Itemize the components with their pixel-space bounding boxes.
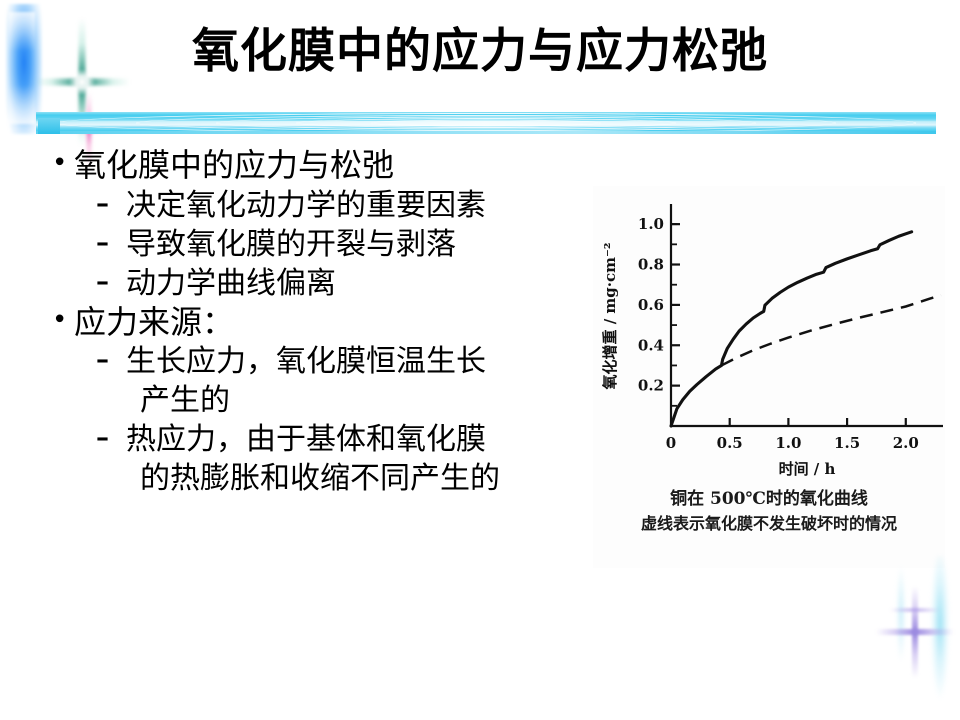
x-tick-label: 0 bbox=[666, 434, 676, 452]
x-tick-label: 2.0 bbox=[893, 434, 919, 452]
list-item-level1-label: 氧化膜中的应力与松弛 bbox=[74, 146, 612, 186]
y-axis-tick-labels: 0.20.40.60.81.0 bbox=[638, 215, 664, 394]
oxidation-curve-figure: 0.20.40.60.81.0 00.51.01.52.0 氧化增重 / mg·… bbox=[593, 186, 945, 568]
x-axis-tick-labels: 00.51.01.52.0 bbox=[666, 434, 919, 452]
dash-marker-icon: – bbox=[96, 342, 126, 379]
list-item-level2: – 导致氧化膜的开裂与剥落 bbox=[96, 225, 612, 264]
dash-marker-icon: – bbox=[96, 264, 126, 301]
y-axis-ticks bbox=[671, 224, 680, 406]
header-divider-stub bbox=[38, 118, 60, 134]
figure-caption-line-1: 铜在 500℃时的氧化曲线 bbox=[593, 486, 945, 512]
dash-marker-icon: – bbox=[96, 186, 126, 223]
list-item-level2: – 动力学曲线偏离 bbox=[96, 264, 612, 303]
bullet-dot-icon: • bbox=[52, 303, 74, 339]
decorative-cyan-streak-secondary bbox=[896, 566, 906, 662]
decorative-cyan-streak bbox=[930, 556, 950, 706]
list-item-level2-label: 生长应力，氧化膜恒温生长 产生的 bbox=[126, 342, 612, 420]
list-item-level2-label: 动力学曲线偏离 bbox=[126, 264, 612, 303]
list-item-level1: • 应力来源： bbox=[52, 303, 612, 343]
x-axis-ticks bbox=[730, 418, 906, 426]
figure-caption-line-2: 虚线表示氧化膜不发生破坏时的情况 bbox=[593, 512, 945, 537]
y-tick-label: 0.2 bbox=[638, 377, 664, 395]
y-tick-label: 0.4 bbox=[638, 336, 664, 354]
series-solid-line bbox=[671, 232, 912, 426]
list-item-level2: – 生长应力，氧化膜恒温生长 产生的 bbox=[96, 342, 612, 420]
list-item-level1-label: 应力来源： bbox=[74, 303, 612, 343]
header-divider-underline bbox=[36, 131, 936, 134]
figure-caption: 铜在 500℃时的氧化曲线 虚线表示氧化膜不发生破坏时的情况 bbox=[593, 486, 945, 537]
y-axis-title: 氧化增重 / mg·cm⁻² bbox=[601, 243, 619, 391]
x-tick-label: 1.5 bbox=[834, 434, 860, 452]
bullet-list: • 氧化膜中的应力与松弛 – 决定氧化动力学的重要因素 – 导致氧化膜的开裂与剥… bbox=[52, 146, 612, 498]
y-tick-label: 1.0 bbox=[638, 215, 664, 233]
list-item-level2-label: 导致氧化膜的开裂与剥落 bbox=[126, 225, 612, 264]
x-tick-label: 1.0 bbox=[775, 434, 801, 452]
x-tick-label: 0.5 bbox=[717, 434, 743, 452]
list-item-line-1: 热应力，由于基体和氧化膜 bbox=[126, 422, 486, 457]
list-item-line-1: 生长应力，氧化膜恒温生长 bbox=[126, 344, 486, 379]
dash-marker-icon: – bbox=[96, 225, 126, 262]
slide-canvas: 氧化膜中的应力与应力松弛 • 氧化膜中的应力与松弛 – 决定氧化动力学的重要因素… bbox=[0, 0, 960, 720]
list-item-level2: – 热应力，由于基体和氧化膜 的热膨胀和收缩不同产生的 bbox=[96, 420, 612, 498]
slide-title: 氧化膜中的应力与应力松弛 bbox=[0, 26, 960, 78]
list-item-level2: – 决定氧化动力学的重要因素 bbox=[96, 186, 612, 225]
list-item-line-2: 产生的 bbox=[126, 381, 612, 420]
x-axis-title: 时间 / h bbox=[779, 460, 836, 478]
list-item-level1: • 氧化膜中的应力与松弛 bbox=[52, 146, 612, 186]
dash-marker-icon: – bbox=[96, 420, 126, 457]
y-tick-label: 0.8 bbox=[638, 256, 664, 274]
series-dashed-line bbox=[721, 295, 941, 365]
list-item-level2-label: 热应力，由于基体和氧化膜 的热膨胀和收缩不同产生的 bbox=[126, 420, 612, 498]
list-item-level2-label: 决定氧化动力学的重要因素 bbox=[126, 186, 612, 225]
y-tick-label: 0.6 bbox=[638, 296, 664, 314]
list-item-line-2: 的热膨胀和收缩不同产生的 bbox=[126, 459, 612, 498]
chart-svg: 0.20.40.60.81.0 00.51.01.52.0 氧化增重 / mg·… bbox=[593, 186, 945, 486]
bullet-dot-icon: • bbox=[52, 146, 74, 182]
